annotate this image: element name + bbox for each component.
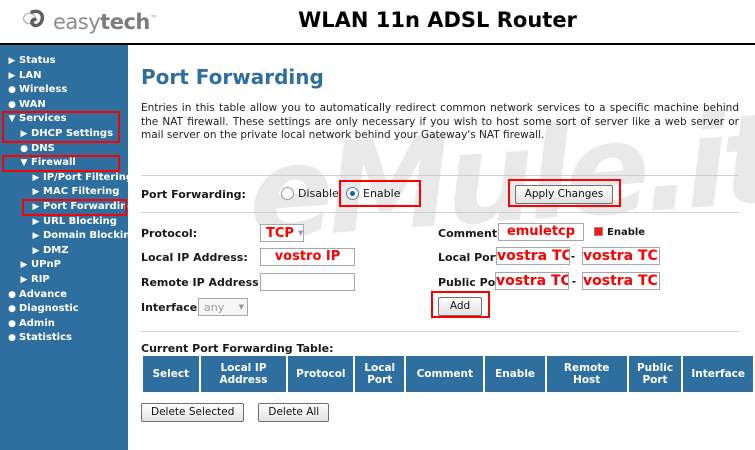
sidebar-item-port-forwarding[interactable]: ▶Port Forwarding <box>0 200 128 215</box>
add-button[interactable]: Add <box>438 297 482 316</box>
chevron-right-icon: ▶ <box>18 127 30 142</box>
remote-ip-input[interactable] <box>260 273 355 291</box>
local-port-to-input[interactable]: vostra TCP <box>582 247 660 265</box>
radio-enable[interactable]: Enable <box>346 187 400 200</box>
chevron-right-icon: ▶ <box>18 273 30 288</box>
comment-input[interactable]: emuletcp <box>498 223 584 241</box>
enable-checkbox[interactable] <box>594 227 603 236</box>
sidebar-item-label: Wireless <box>19 83 67 98</box>
sidebar-item-list: ▶Status▶LAN●Wireless●WAN▼Services▶DHCP S… <box>0 54 128 346</box>
sidebar-item-wan[interactable]: ●WAN <box>0 98 128 113</box>
table-column-header: Public Port <box>629 356 682 392</box>
sidebar-item-status[interactable]: ▶Status <box>0 54 128 69</box>
local-port-from-input[interactable]: vostra TCP <box>496 247 570 265</box>
sidebar-item-label: LAN <box>19 69 41 84</box>
sidebar-item-diagnostic[interactable]: ●Diagnostic <box>0 302 128 317</box>
table-column-header: Comment <box>406 356 483 392</box>
page-header: easytech™ WLAN 11n ADSL Router <box>0 0 755 44</box>
chevron-right-icon: ▶ <box>30 244 42 259</box>
local-ip-label: Local IP Address: <box>141 251 248 264</box>
sidebar-item-dmz[interactable]: ▶DMZ <box>0 244 128 259</box>
table-action-buttons: Delete Selected Delete All <box>141 403 329 422</box>
local-ip-input[interactable]: vostro IP <box>260 248 355 266</box>
sidebar-item-label: Advance <box>19 288 67 303</box>
main-content: eMule.it Port Forwarding Entries in this… <box>128 45 755 450</box>
port-forwarding-label: Port Forwarding: <box>141 188 246 201</box>
sidebar-item-rip[interactable]: ▶RIP <box>0 273 128 288</box>
chevron-down-icon: ▼ <box>298 229 303 237</box>
sidebar-item-label: Status <box>19 54 56 69</box>
sidebar-item-advance[interactable]: ●Advance <box>0 288 128 303</box>
table-caption: Current Port Forwarding Table: <box>141 342 334 355</box>
port-forwarding-table: SelectLocal IP AddressProtocolLocal Port… <box>141 356 755 392</box>
sidebar-item-label: IP/Port Filtering <box>43 171 133 186</box>
dot-icon: ● <box>6 98 18 113</box>
table-column-header: Protocol <box>288 356 353 392</box>
chevron-right-icon: ▶ <box>30 171 42 186</box>
table-column-header: Enable <box>485 356 544 392</box>
sidebar-item-label: RIP <box>31 273 50 288</box>
sidebar-item-label: Diagnostic <box>19 302 79 317</box>
sidebar-item-label: Firewall <box>31 156 76 171</box>
dot-icon: ● <box>6 331 18 346</box>
chevron-right-icon: ▶ <box>30 200 42 215</box>
sidebar-item-wireless[interactable]: ●Wireless <box>0 83 128 98</box>
divider-middle <box>141 212 739 213</box>
sidebar-item-label: DMZ <box>43 244 69 259</box>
chevron-right-icon: ▶ <box>30 215 42 230</box>
sidebar-item-dns[interactable]: ●DNS <box>0 142 128 157</box>
sidebar-item-firewall[interactable]: ▼Firewall <box>0 156 128 171</box>
comment-label: Comment: <box>438 227 502 240</box>
delete-selected-button[interactable]: Delete Selected <box>141 403 244 422</box>
sidebar-item-upnp[interactable]: ▶UPnP <box>0 258 128 273</box>
sidebar-item-url-blocking[interactable]: ▶URL Blocking <box>0 215 128 230</box>
protocol-select[interactable]: TCP ▼ <box>260 224 304 242</box>
sidebar-item-label: UPnP <box>31 258 61 273</box>
chevron-right-icon: ▶ <box>18 258 30 273</box>
remote-ip-label: Remote IP Address: <box>141 276 263 289</box>
interface-label: Interface: <box>141 301 202 314</box>
dot-icon: ● <box>6 288 18 303</box>
interface-select-value: any <box>204 301 224 314</box>
sidebar-item-label: Admin <box>19 317 55 332</box>
protocol-select-value: TCP <box>266 226 294 241</box>
interface-select[interactable]: any ▼ <box>198 298 248 316</box>
public-port-separator: - <box>572 274 576 288</box>
radio-enable-indicator[interactable] <box>346 187 359 200</box>
chevron-right-icon: ▶ <box>30 229 42 244</box>
app-title: WLAN 11n ADSL Router <box>0 8 755 32</box>
sidebar-item-ip-port-filtering[interactable]: ▶IP/Port Filtering <box>0 171 128 186</box>
sidebar-item-label: Services <box>19 112 67 127</box>
sidebar-item-services[interactable]: ▼Services <box>0 112 128 127</box>
sidebar-item-admin[interactable]: ●Admin <box>0 317 128 332</box>
sidebar-item-label: Port Forwarding <box>43 200 134 215</box>
table-header-row: SelectLocal IP AddressProtocolLocal Port… <box>143 356 753 392</box>
divider-top <box>141 175 739 176</box>
radio-disable-label: Disable <box>298 187 339 200</box>
delete-all-button[interactable]: Delete All <box>258 403 329 422</box>
apply-changes-button[interactable]: Apply Changes <box>515 185 613 204</box>
page-description: Entries in this table allow you to autom… <box>141 102 739 143</box>
radio-enable-label: Enable <box>363 187 400 200</box>
public-port-from-input[interactable]: vostra TCP <box>495 272 569 290</box>
sidebar-item-label: DHCP Settings <box>31 127 113 142</box>
chevron-right-icon: ▶ <box>6 54 18 69</box>
enable-checkbox-label: Enable <box>607 227 645 238</box>
sidebar-item-label: URL Blocking <box>43 215 117 230</box>
chevron-down-icon: ▼ <box>239 303 244 311</box>
public-port-to-input[interactable]: vostra TCP <box>582 272 660 290</box>
sidebar-item-dhcp-settings[interactable]: ▶DHCP Settings <box>0 127 128 142</box>
local-port-label: Local Port: <box>438 251 505 264</box>
dot-icon: ● <box>6 302 18 317</box>
protocol-label: Protocol: <box>141 227 197 240</box>
port-forwarding-toggle-row: Port Forwarding: Disable Enable Apply Ch… <box>141 185 741 205</box>
sidebar-item-label: Statistics <box>19 331 72 346</box>
chevron-down-icon: ▼ <box>6 112 18 127</box>
page-title: Port Forwarding <box>141 65 324 89</box>
sidebar-nav: ▶Status▶LAN●Wireless●WAN▼Services▶DHCP S… <box>0 45 128 450</box>
sidebar-item-domain-blocking[interactable]: ▶Domain Blocking <box>0 229 128 244</box>
table-column-header: Select <box>143 356 199 392</box>
sidebar-item-label: WAN <box>19 98 46 113</box>
radio-disable-indicator[interactable] <box>281 187 294 200</box>
table-column-header: Interface <box>683 356 753 392</box>
chevron-down-icon: ▼ <box>18 156 30 171</box>
dot-icon: ● <box>18 142 30 157</box>
dot-icon: ● <box>6 317 18 332</box>
chevron-right-icon: ▶ <box>30 185 42 200</box>
divider-bottom <box>141 331 739 332</box>
sidebar-item-label: Domain Blocking <box>43 229 138 244</box>
radio-disable[interactable]: Disable <box>281 187 339 200</box>
sidebar-item-statistics[interactable]: ●Statistics <box>0 331 128 346</box>
table-column-header: Local Port <box>355 356 404 392</box>
dot-icon: ● <box>6 83 18 98</box>
chevron-right-icon: ▶ <box>6 69 18 84</box>
sidebar-item-label: DNS <box>31 142 55 157</box>
local-port-separator: - <box>571 249 575 263</box>
table-column-header: Local IP Address <box>201 356 287 392</box>
sidebar-item-label: MAC Filtering <box>43 185 119 200</box>
sidebar-item-lan[interactable]: ▶LAN <box>0 69 128 84</box>
sidebar-item-mac-filtering[interactable]: ▶MAC Filtering <box>0 185 128 200</box>
table-column-header: Remote Host <box>547 356 627 392</box>
